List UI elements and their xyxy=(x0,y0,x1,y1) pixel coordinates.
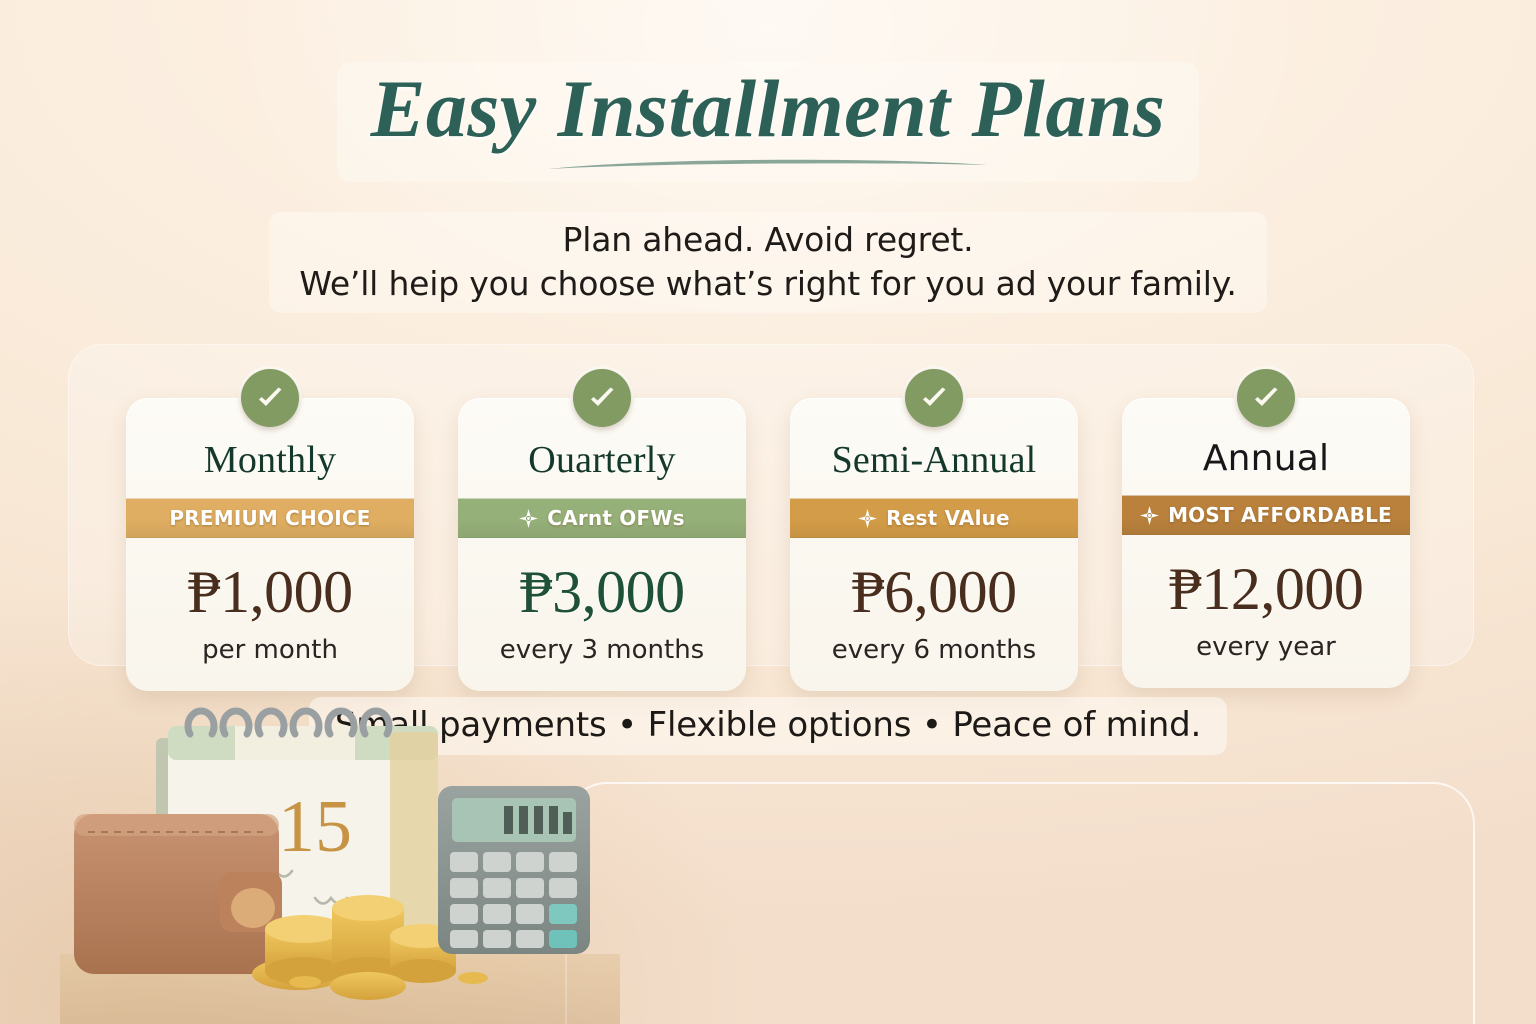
title-plate: Easy Installment Plans xyxy=(337,62,1200,182)
plan-badge: Rest VAlue xyxy=(790,498,1078,538)
sparkle-icon xyxy=(1140,506,1159,525)
plan-price: ₱6,000 xyxy=(790,538,1078,629)
subtitle-line-1: Plan ahead. Avoid regret. xyxy=(299,218,1236,262)
page-title: Easy Installment Plans xyxy=(371,66,1166,152)
plan-period: every 6 months xyxy=(790,629,1078,665)
subtitle-line-2: We’ll heip you choose what’s right for y… xyxy=(299,262,1236,306)
wallet-icon xyxy=(74,814,282,974)
plan-period: every 3 months xyxy=(458,629,746,665)
header: Easy Installment Plans Plan ahead. Avoid… xyxy=(0,0,1536,313)
subtitle-plate: Plan ahead. Avoid regret. We’ll heip you… xyxy=(269,212,1266,313)
plan-card-quarterly[interactable]: Ouarterly CArnt OFWs ₱3,000 every 3 mont… xyxy=(458,398,746,691)
plan-price: ₱1,000 xyxy=(126,538,414,629)
plan-price: ₱12,000 xyxy=(1122,535,1410,626)
plan-card-monthly[interactable]: Monthly PREMIUM CHOICE ₱1,000 per month xyxy=(126,398,414,691)
check-circle-icon xyxy=(241,369,299,427)
plan-badge: CArnt OFWs xyxy=(458,498,746,538)
plan-price: ₱3,000 xyxy=(458,538,746,629)
plans-row: Monthly PREMIUM CHOICE ₱1,000 per month … xyxy=(0,345,1536,675)
plan-badge-label: Rest VAlue xyxy=(886,506,1010,530)
plan-period: every year xyxy=(1122,626,1410,662)
plan-card-semi-annual[interactable]: Semi-Annual Rest VAlue ₱6,000 every 6 mo… xyxy=(790,398,1078,691)
check-circle-icon xyxy=(1237,369,1295,427)
plan-badge: MOST AFFORDABLE xyxy=(1122,495,1410,535)
plan-badge-label: PREMIUM CHOICE xyxy=(169,506,370,530)
poster-canvas: Easy Installment Plans Plan ahead. Avoid… xyxy=(0,0,1536,1024)
calendar-day-number: 15 xyxy=(278,786,352,868)
sparkle-icon xyxy=(858,509,877,528)
plan-badge-label: CArnt OFWs xyxy=(547,506,684,530)
sparkle-icon xyxy=(519,509,538,528)
check-circle-icon xyxy=(573,369,631,427)
title-underline-swash xyxy=(544,156,992,172)
finance-illustration: 15 xyxy=(60,686,620,1024)
check-circle-icon xyxy=(905,369,963,427)
plan-card-annual[interactable]: Annual MOST AFFORDABLE ₱12,000 every yea… xyxy=(1122,398,1410,688)
calculator-icon xyxy=(438,786,590,954)
plan-badge-label: MOST AFFORDABLE xyxy=(1168,503,1392,527)
plan-period: per month xyxy=(126,629,414,665)
decorative-outline-panel xyxy=(565,782,1475,1024)
plan-badge: PREMIUM CHOICE xyxy=(126,498,414,538)
